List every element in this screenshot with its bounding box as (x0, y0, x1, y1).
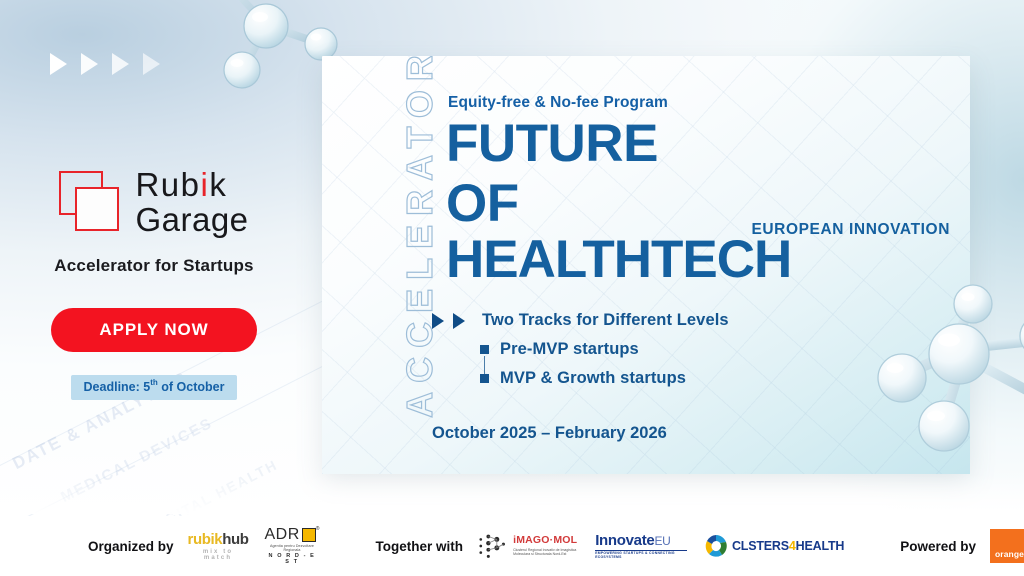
list-item: MVP & Growth startups (480, 369, 729, 388)
headline-line-1: FUTURE (446, 118, 952, 170)
play-triangle-icon (143, 53, 160, 75)
clusters4health-logo: CLSTERS4HEALTH (703, 533, 844, 559)
innovate-eu-name: Innovate (595, 532, 654, 549)
play-triangle-icon (112, 53, 129, 75)
rubikhub-part2: hub (222, 531, 248, 548)
clusters4health-wordmark: CLSTERS4HEALTH (732, 539, 844, 553)
list-item: Pre-MVP startups (480, 340, 729, 359)
deadline-suffix: of October (161, 380, 224, 394)
clusters-number: 4 (789, 539, 796, 553)
track-label: Pre-MVP startups (500, 340, 639, 359)
left-panel: Rubik Garage Accelerator for Startups AP… (0, 168, 308, 400)
clusters-swirl-icon (703, 533, 729, 559)
adr-square-icon (303, 529, 315, 541)
play-triangle-icon (81, 53, 98, 75)
imago-mol-text: iMAGO·MOL Clusterul Regional Inovativ de… (513, 535, 579, 556)
adr-top-row: ADR ® (265, 527, 320, 543)
deadline-badge: Deadline: 5th of October (71, 375, 238, 400)
program-kicker: Equity-free & No-fee Program (448, 94, 952, 112)
together-with-group: Together with (375, 531, 844, 561)
molecule-icon (856, 262, 1024, 472)
brand-line-2: Garage (135, 203, 248, 236)
footer-fade (0, 474, 1024, 514)
partners-footer: Organized by rubikhub mix to match ADR ®… (0, 516, 1024, 576)
powered-by-group: Powered by orange (900, 529, 1024, 563)
brand-line-1-pre: Rub (135, 166, 200, 203)
powered-by-logos: orange (990, 529, 1024, 563)
orange-wordmark: orange (995, 549, 1024, 559)
adr-region: N O R D - E S T (265, 554, 320, 565)
imago-mol-subtitle: Clusterul Regional Inovativ de Imagistic… (513, 548, 579, 557)
organized-by-logos: rubikhub mix to match ADR ® Agentia pent… (188, 527, 320, 565)
brand-line-1-post: k (209, 166, 227, 203)
tracks-list: Pre-MVP startups MVP & Growth startups (480, 340, 729, 388)
adr-subtitle: Agentia pentru Dezvoltare Regionala (265, 545, 320, 552)
imago-mol-wordmark: iMAGO·MOL (513, 535, 579, 546)
innovate-eu-subtitle: EMPOWERING STARTUPS & CONNECTING ECOSYST… (595, 552, 687, 559)
clusters-mid: STERS (748, 539, 789, 553)
brand-line-1: Rubik (135, 168, 248, 201)
program-dates: October 2025 – February 2026 (432, 424, 667, 443)
rubikhub-wordmark: rubikhub (188, 532, 249, 547)
play-triangle-icon (453, 313, 465, 329)
rubikhub-tagline: mix to match (188, 549, 249, 561)
together-with-label: Together with (375, 539, 463, 554)
organized-by-group: Organized by rubikhub mix to match ADR ®… (88, 527, 319, 565)
organized-by-label: Organized by (88, 539, 174, 554)
rubikhub-logo: rubikhub mix to match (188, 532, 249, 561)
together-with-logos: iMAGO·MOL Clusterul Regional Inovativ de… (477, 531, 844, 561)
tracks-block: Two Tracks for Different Levels Pre-MVP … (432, 311, 729, 388)
powered-by-label: Powered by (900, 539, 976, 554)
orange-logo: orange (990, 529, 1024, 563)
rubik-garage-square-mark-icon (59, 171, 121, 233)
tracks-title: Two Tracks for Different Levels (482, 311, 729, 330)
tracks-connector-line (484, 356, 485, 382)
apply-now-button[interactable]: APPLY NOW (51, 308, 257, 352)
clusters-pre: CL (732, 539, 748, 553)
play-triangle-icon (50, 53, 67, 75)
play-triangle-icon (432, 313, 444, 329)
innovate-eu-logo: InnovateEU EMPOWERING STARTUPS & CONNECT… (595, 533, 687, 559)
clusters-post: HEALTH (796, 539, 845, 553)
adr-registered-icon: ® (316, 527, 320, 532)
imago-mol-logo: iMAGO·MOL Clusterul Regional Inovativ de… (477, 531, 579, 561)
molecule-dots-icon (477, 531, 509, 561)
tracks-heading-row: Two Tracks for Different Levels (432, 311, 729, 330)
brand-wordmark: Rubik Garage (135, 168, 248, 236)
square-bullet-icon (480, 345, 489, 354)
decorative-arrows (50, 53, 160, 75)
rubikhub-part1: rubik (188, 531, 223, 548)
innovate-eu-wordmark: InnovateEU (595, 533, 687, 548)
track-label: MVP & Growth startups (500, 369, 686, 388)
adr-wordmark: ADR (265, 527, 300, 543)
european-innovation-label: EUROPEAN INNOVATION (751, 221, 950, 239)
adr-nord-est-logo: ADR ® Agentia pentru Dezvoltare Regional… (265, 527, 320, 565)
deadline-ordinal-suffix: th (150, 379, 158, 387)
deadline-prefix: Deadline: 5 (84, 380, 151, 394)
brand-logo: Rubik Garage (59, 168, 248, 236)
poster-canvas: DATE & ANALYTICS MEDICAL DEVICES DIGITAL… (0, 0, 1024, 576)
innovate-eu-suffix: EU (654, 534, 670, 548)
brand-tagline: Accelerator for Startups (54, 256, 253, 276)
card-body: Equity-free & No-fee Program FUTURE OF H… (446, 94, 952, 286)
